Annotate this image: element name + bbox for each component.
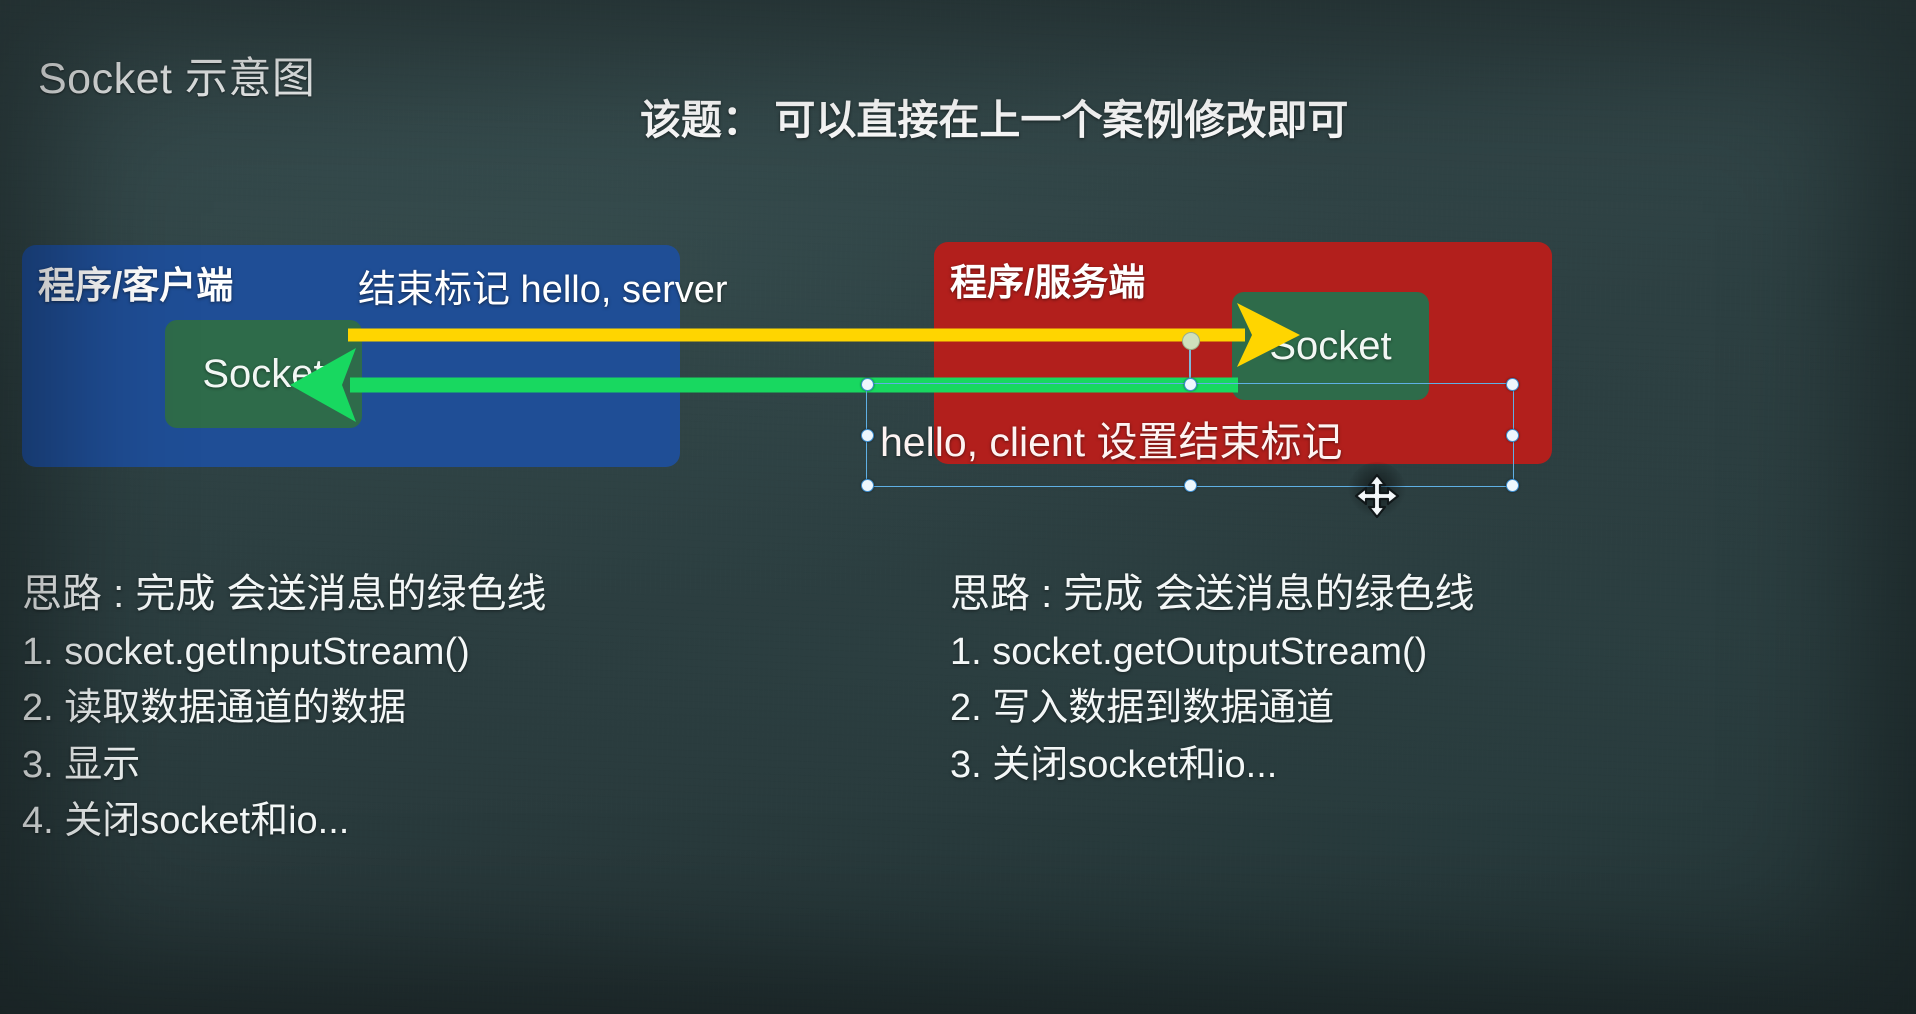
server-socket-label: Socket (1269, 324, 1391, 369)
selection-frame[interactable] (866, 383, 1514, 487)
slide-subtitle: 该题： 可以直接在上一个案例修改即可 (640, 86, 1348, 146)
resize-handle-bottom-left[interactable] (861, 479, 874, 492)
notes-left-step-3: 3. 显示 (22, 737, 546, 793)
client-socket-label: Socket (202, 352, 324, 397)
resize-handle-bottom-center[interactable] (1184, 479, 1197, 492)
move-cursor-icon (1354, 473, 1400, 519)
resize-handle-top-left[interactable] (861, 378, 874, 391)
notes-left-step-4: 4. 关闭socket和io... (22, 793, 546, 849)
notes-right: 思路 : 完成 会送消息的绿色线 1. socket.getOutputStre… (950, 565, 1474, 793)
notes-right-step-1: 1. socket.getOutputStream() (950, 624, 1474, 680)
client-panel-label: 程序/客户端 (38, 255, 233, 309)
resize-handle-middle-right[interactable] (1506, 429, 1519, 442)
resize-handle-bottom-right[interactable] (1506, 479, 1519, 492)
notes-right-heading: 思路 : 完成 会送消息的绿色线 (950, 565, 1474, 624)
resize-handle-middle-left[interactable] (861, 429, 874, 442)
page-title: Socket 示意图 (38, 44, 315, 106)
notes-left-heading: 思路 : 完成 会送消息的绿色线 (22, 565, 546, 624)
notes-left: 思路 : 完成 会送消息的绿色线 1. socket.getInputStrea… (22, 565, 546, 849)
notes-left-step-1: 1. socket.getInputStream() (22, 624, 546, 680)
server-panel-label: 程序/服务端 (950, 252, 1145, 306)
slide-canvas[interactable]: Socket 示意图 该题： 可以直接在上一个案例修改即可 程序/客户端 程序/… (0, 0, 1916, 1014)
client-socket-box[interactable]: Socket (165, 320, 362, 428)
arrow-label-client-to-server: 结束标记 hello, server (358, 258, 728, 313)
rotate-handle-icon[interactable] (1182, 332, 1200, 350)
arrow-layer (0, 0, 1916, 1014)
chalkboard-grain (0, 0, 1916, 1014)
notes-right-step-3: 3. 关闭socket和io... (950, 737, 1474, 793)
vignette-overlay (0, 0, 1916, 1014)
notes-right-step-2: 2. 写入数据到数据通道 (950, 680, 1474, 736)
notes-left-step-2: 2. 读取数据通道的数据 (22, 680, 546, 736)
resize-handle-top-right[interactable] (1506, 378, 1519, 391)
resize-handle-top-center[interactable] (1184, 378, 1197, 391)
